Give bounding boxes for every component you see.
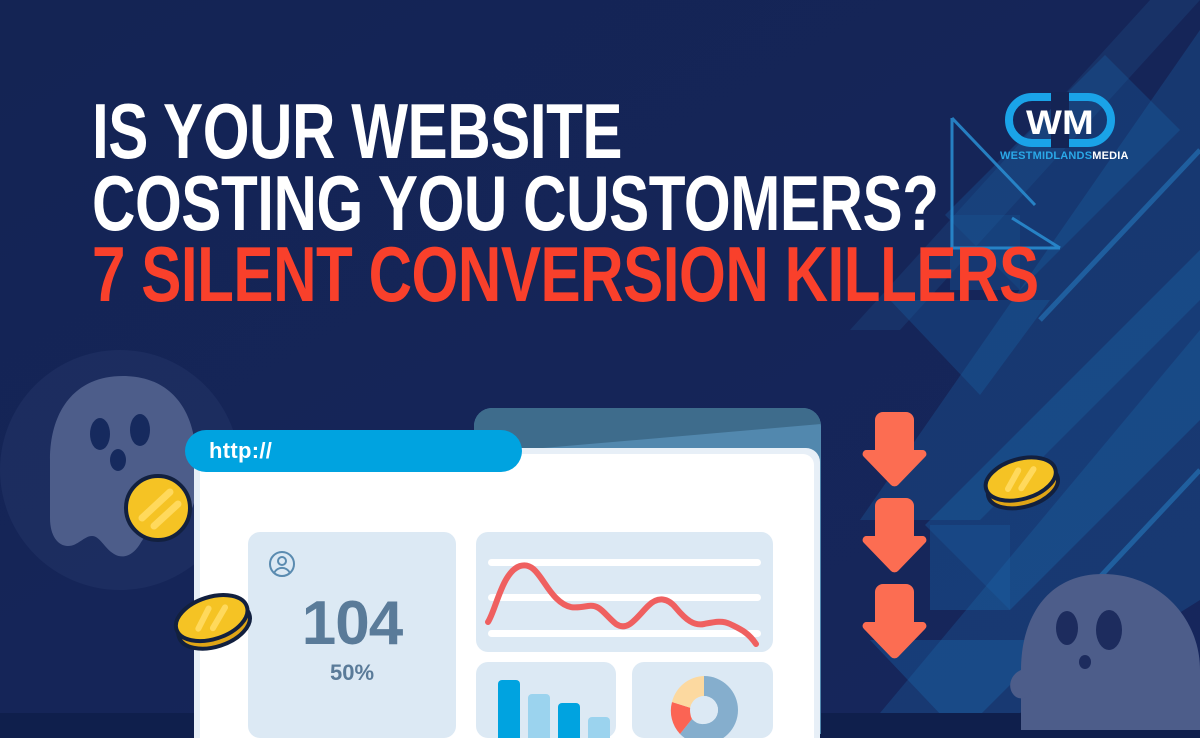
headline-line-1: IS YOUR WEBSITE xyxy=(92,96,1039,169)
brand-logo[interactable]: WM WESTMIDLANDSMEDIA xyxy=(1000,92,1120,162)
down-arrow-1-icon xyxy=(863,412,927,486)
headline-block: IS YOUR WEBSITE COSTING YOU CUSTOMERS? 7… xyxy=(92,96,1099,311)
device-mockup: 104 50% xyxy=(180,404,840,734)
url-bar[interactable]: http:// xyxy=(185,430,522,472)
line-chart-series xyxy=(476,532,773,652)
coin-flat-icon xyxy=(122,472,194,544)
down-arrow-group xyxy=(858,410,928,660)
headline-line-2: COSTING YOU CUSTOMERS? xyxy=(92,168,1039,241)
logo-wordmark-part1: WESTMIDLANDS xyxy=(1000,150,1092,162)
svg-text:WM: WM xyxy=(1026,103,1094,142)
bar-chart-card[interactable] xyxy=(476,662,616,738)
user-avatar-icon xyxy=(268,550,296,578)
browser-screen: 104 50% xyxy=(200,454,814,738)
donut-chart-series xyxy=(666,672,742,738)
url-bar-text: http:// xyxy=(209,438,272,464)
coin-tilted-lower-icon xyxy=(168,580,256,658)
metric-value: 104 xyxy=(248,588,456,659)
metric-percent: 50% xyxy=(248,660,456,686)
ghost-right-icon xyxy=(985,570,1200,730)
headline-line-3: 7 SILENT CONVERSION KILLERS xyxy=(92,239,1039,312)
down-arrow-3-icon xyxy=(863,584,927,658)
bar-4 xyxy=(588,717,610,738)
logo-wordmark-part2: MEDIA xyxy=(1092,150,1128,162)
down-arrow-2-icon xyxy=(863,498,927,572)
wm-monogram-icon: WM xyxy=(1005,92,1115,148)
coin-tilted-right-icon xyxy=(978,442,1064,518)
metric-card[interactable]: 104 50% xyxy=(248,532,456,738)
line-chart-card[interactable] xyxy=(476,532,773,652)
logo-wordmark: WESTMIDLANDSMEDIA xyxy=(1000,150,1120,162)
donut-chart-card[interactable] xyxy=(632,662,773,738)
bar-2 xyxy=(528,694,550,738)
bar-3 xyxy=(558,703,580,738)
bar-1 xyxy=(498,680,520,738)
